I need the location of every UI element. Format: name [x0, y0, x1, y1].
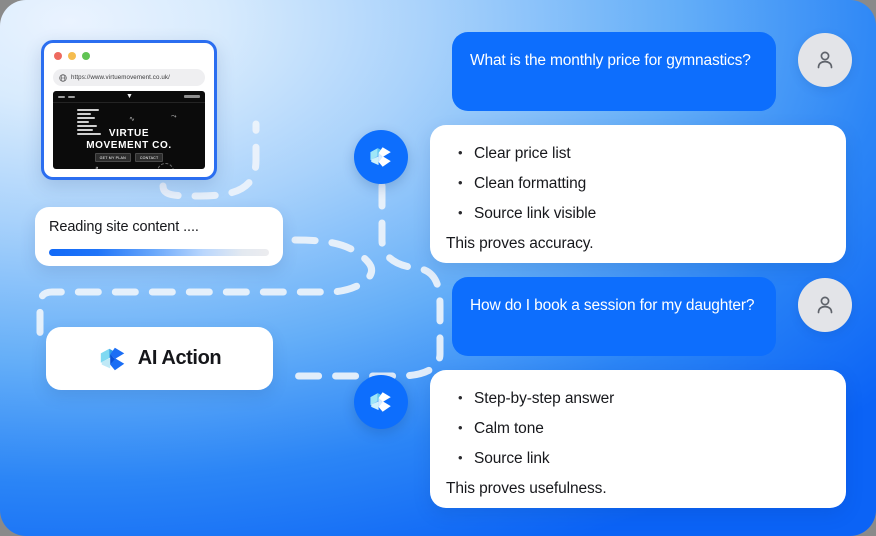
url-bar[interactable]: https://www.virtuemovement.co.uk/ — [53, 69, 205, 86]
website-nav-links — [58, 96, 75, 98]
website-hero-title: VIRTUE MOVEMENT CO. — [53, 128, 205, 151]
avatar[interactable] — [354, 130, 408, 184]
user-message-text: What is the monthly price for gymnastics… — [470, 52, 751, 69]
browser-window[interactable]: https://www.virtuemovement.co.uk/ ▼ ∿ ⤳ … — [41, 40, 217, 180]
status-text: Reading site content .... — [49, 219, 199, 235]
ai-avatar-icon — [368, 144, 394, 170]
status-card: Reading site content .... — [35, 207, 283, 266]
avatar[interactable] — [798, 278, 852, 332]
ai-action-logo-icon — [98, 344, 128, 374]
list-item: Source link visible — [446, 199, 830, 229]
website-decor-icon-1: ∿ — [129, 115, 135, 123]
user-message-bubble[interactable]: How do I book a session for my daughter? — [452, 277, 776, 356]
website-navbar: ▼ — [53, 91, 205, 103]
website-decor-icon-3: ↗ — [93, 165, 99, 169]
list-item: Calm tone — [446, 414, 830, 444]
globe-icon — [59, 74, 67, 82]
close-icon[interactable] — [54, 52, 62, 60]
website-logo-icon: ▼ — [126, 93, 132, 100]
ai-bullet-list: Step-by-step answer Calm tone Source lin… — [446, 384, 830, 474]
avatar[interactable] — [798, 33, 852, 87]
list-item: Clean formatting — [446, 169, 830, 199]
list-item: Clear price list — [446, 139, 830, 169]
user-avatar-icon — [813, 48, 837, 72]
infographic-canvas: https://www.virtuemovement.co.uk/ ▼ ∿ ⤳ … — [0, 0, 876, 536]
ai-bullet-list: Clear price list Clean formatting Source… — [446, 139, 830, 229]
website-preview[interactable]: ▼ ∿ ⤳ ↗ VIRTUE MOVEMENT CO. GET MY PLAN … — [53, 91, 205, 169]
ai-message-bubble[interactable]: Step-by-step answer Calm tone Source lin… — [430, 370, 846, 508]
ai-action-card[interactable]: AI Action — [46, 327, 273, 390]
user-message-bubble[interactable]: What is the monthly price for gymnastics… — [452, 32, 776, 111]
website-search-icon — [184, 95, 200, 98]
website-hero-buttons[interactable]: GET MY PLAN CONTACT — [53, 153, 205, 162]
user-message-text: How do I book a session for my daughter? — [470, 297, 754, 314]
window-controls[interactable] — [54, 52, 90, 60]
ai-avatar-icon — [368, 389, 394, 415]
ai-message-bubble[interactable]: Clear price list Clean formatting Source… — [430, 125, 846, 263]
minimize-icon[interactable] — [68, 52, 76, 60]
url-text: https://www.virtuemovement.co.uk/ — [71, 74, 170, 81]
user-avatar-icon — [813, 293, 837, 317]
list-item: Step-by-step answer — [446, 384, 830, 414]
website-cta-primary[interactable]: GET MY PLAN — [95, 153, 131, 162]
avatar[interactable] — [354, 375, 408, 429]
website-cta-secondary[interactable]: CONTACT — [135, 153, 164, 162]
website-decor-icon-2: ⤳ — [171, 113, 177, 121]
website-decor-circle — [157, 163, 174, 169]
ai-conclusion-text: This proves usefulness. — [446, 474, 830, 504]
ai-action-label: AI Action — [138, 347, 221, 370]
maximize-icon[interactable] — [82, 52, 90, 60]
ai-conclusion-text: This proves accuracy. — [446, 229, 830, 259]
progress-bar — [49, 249, 269, 256]
list-item: Source link — [446, 444, 830, 474]
